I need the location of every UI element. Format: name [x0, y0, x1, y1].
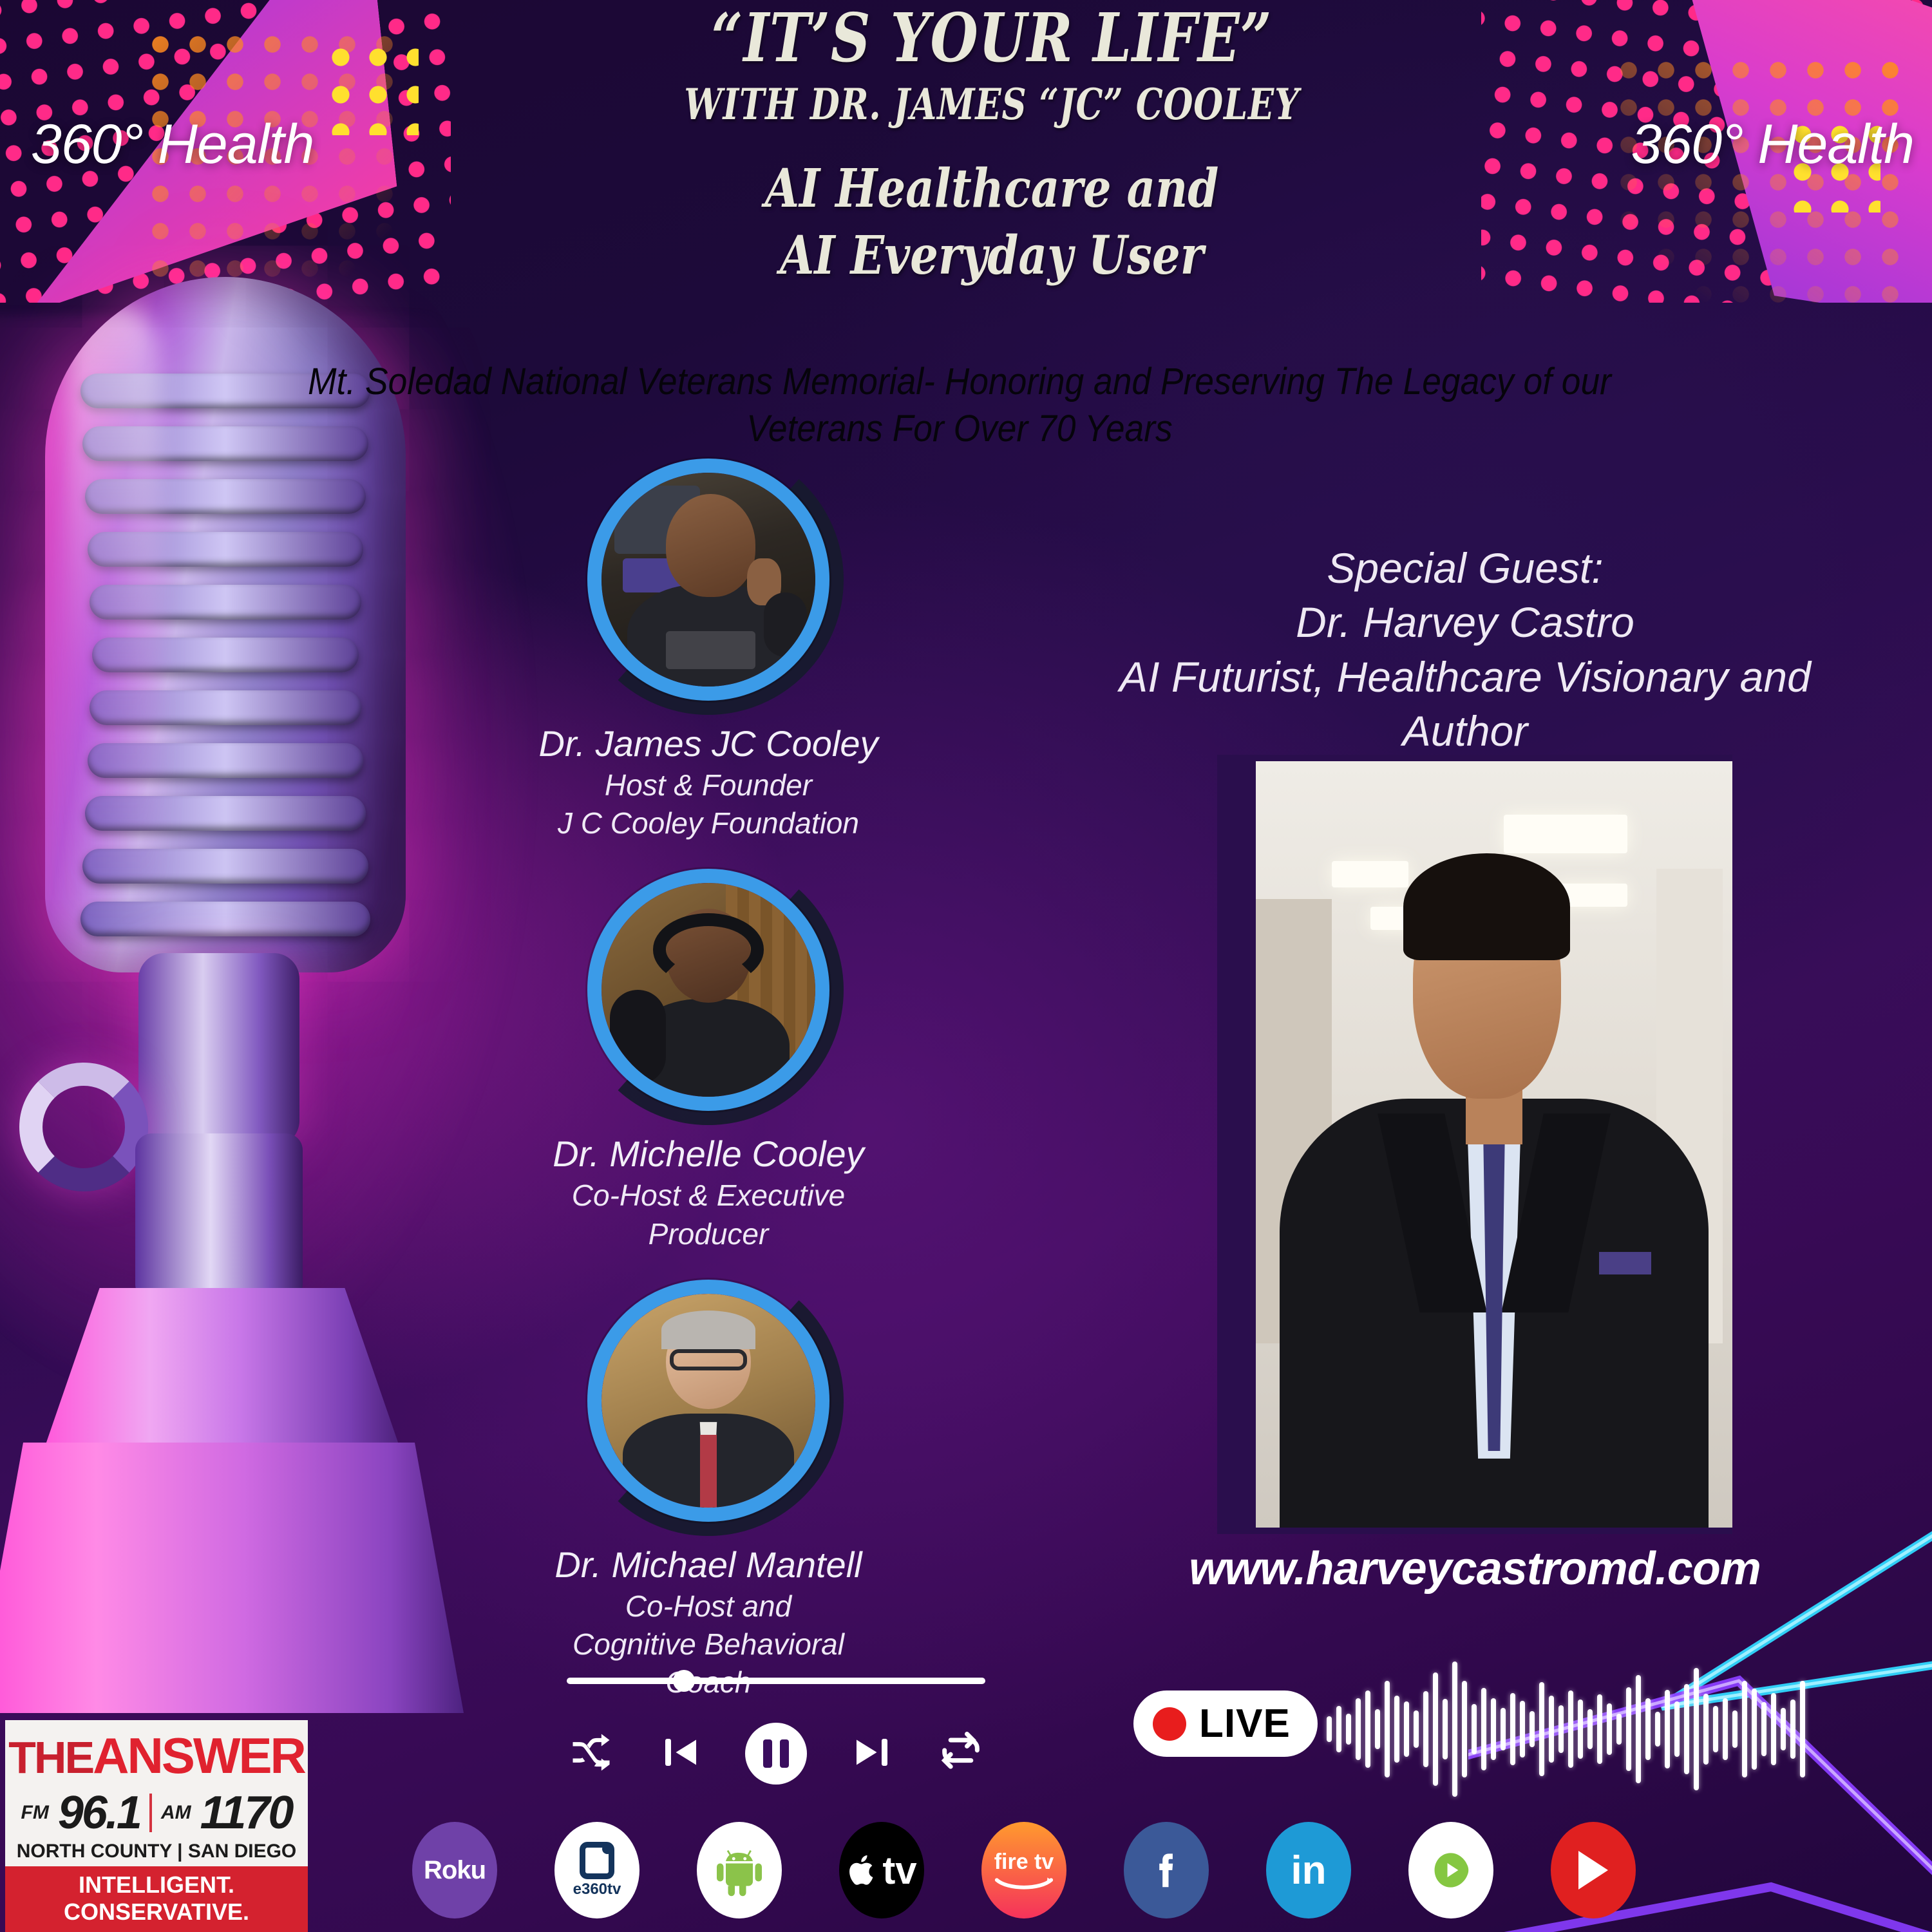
hosts-column: Dr. James JC Cooley Host & Founder J C C…	[522, 444, 895, 1714]
host-card[interactable]: Dr. Michael Mantell Co-Host and Cognitiv…	[522, 1265, 895, 1700]
host-photo	[601, 473, 815, 687]
microphone-illustration	[0, 277, 528, 1835]
e360tv-icon[interactable]: e360tv	[554, 1822, 639, 1918]
pause-icon	[763, 1739, 789, 1768]
amazon-smile-icon	[993, 1875, 1055, 1891]
platform-icon-row: Roku e360tv tv fire tv in	[412, 1819, 1636, 1922]
station-market: NORTH COUNTY | SAN DIEGO	[5, 1841, 308, 1866]
host-role-line: Cognitive Behavioral	[522, 1627, 895, 1662]
station-am-frequency: 1170	[200, 1786, 292, 1839]
play-triangle-icon	[1578, 1851, 1608, 1889]
microphone-highlight	[67, 305, 161, 931]
live-badge: LIVE	[1133, 1690, 1318, 1757]
next-track-icon[interactable]	[849, 1729, 895, 1779]
roku-icon[interactable]: Roku	[412, 1822, 497, 1918]
player-controls	[567, 1723, 985, 1785]
station-the-label: THE	[8, 1732, 93, 1783]
live-record-dot-icon	[1153, 1707, 1186, 1741]
host-name: Dr. Michael Mantell	[522, 1545, 895, 1586]
avatar	[573, 1265, 844, 1536]
rumble-icon[interactable]	[1408, 1822, 1493, 1918]
e360tv-label: e360tv	[573, 1880, 621, 1899]
microphone-base	[42, 1288, 402, 1455]
special-guest-label: Special Guest:	[1005, 541, 1926, 595]
radio-station-logo: THEANSWER FM 96.1 AM 1170 NORTH COUNTY |…	[5, 1720, 308, 1932]
divider	[149, 1794, 152, 1832]
avatar-ring	[587, 459, 829, 701]
station-am-label: AM	[161, 1802, 191, 1824]
poster-canvas: 360° Health 360° Health “IT’S YOUR LIFE”…	[0, 0, 1932, 1932]
host-card[interactable]: Dr. Michelle Cooley Co-Host & Executive …	[522, 855, 895, 1251]
shuffle-icon[interactable]	[567, 1728, 616, 1780]
halftone-dots-yellow	[322, 39, 419, 135]
host-role-line: Co-Host and	[522, 1589, 895, 1624]
youtube-icon[interactable]	[1551, 1822, 1636, 1918]
special-guest-titles-line-1: AI Futurist, Healthcare Visionary and	[1005, 650, 1926, 704]
host-name: Dr. Michelle Cooley	[522, 1134, 895, 1175]
station-fm-frequency: 96.1	[58, 1786, 140, 1839]
guest-website-url[interactable]: www.harveycastromd.com	[1095, 1542, 1855, 1595]
fire-tv-icon[interactable]: fire tv	[981, 1822, 1066, 1918]
microphone-plate	[0, 1443, 464, 1713]
facebook-icon[interactable]	[1124, 1822, 1209, 1918]
special-guest-photo	[1217, 755, 1732, 1534]
episode-topic-line-2: AI Everyday User	[570, 223, 1414, 288]
station-answer-label: ANSWER	[93, 1727, 305, 1784]
special-guest-titles-line-2: Author	[1005, 704, 1926, 758]
show-title: “IT’S YOUR LIFE”	[580, 4, 1403, 72]
microphone-neck	[138, 953, 299, 1146]
memorial-sponsor-text: Mt. Soledad National Veterans Memorial- …	[272, 358, 1647, 452]
avatar-ring	[587, 869, 829, 1111]
host-name: Dr. James JC Cooley	[522, 724, 895, 764]
host-photo	[601, 1294, 815, 1508]
host-photo	[601, 883, 815, 1097]
linkedin-label: in	[1291, 1848, 1326, 1893]
special-guest-block: Special Guest: Dr. Harvey Castro AI Futu…	[1005, 541, 1926, 759]
host-role-line: Host & Founder	[522, 768, 895, 802]
live-label: LIVE	[1199, 1701, 1291, 1747]
android-icon[interactable]	[697, 1822, 782, 1918]
brand-label-right: 360° Health	[1631, 113, 1914, 176]
station-tagline: INTELLIGENT. CONSERVATIVE.	[5, 1866, 308, 1932]
host-role-line: Producer	[522, 1217, 895, 1251]
brand-label-left: 360° Health	[31, 113, 314, 176]
avatar	[573, 444, 844, 715]
avatar	[573, 855, 844, 1125]
headline-block: “IT’S YOUR LIFE” WITH DR. JAMES “JC” COO…	[489, 4, 1494, 288]
episode-topic-line-1: AI Healthcare and	[570, 156, 1414, 221]
host-role-line: Co-Host & Executive	[522, 1179, 895, 1213]
apple-tv-label: tv	[882, 1848, 916, 1893]
roku-label: Roku	[424, 1856, 486, 1885]
previous-track-icon[interactable]	[658, 1729, 704, 1779]
station-fm-label: FM	[21, 1802, 49, 1824]
media-player	[567, 1678, 985, 1785]
progress-bar[interactable]	[567, 1678, 985, 1684]
host-card[interactable]: Dr. James JC Cooley Host & Founder J C C…	[522, 444, 895, 840]
progress-handle[interactable]	[673, 1670, 695, 1692]
microphone-mount-ring	[19, 1063, 148, 1191]
show-host-line: WITH DR. JAMES “JC” COOLEY	[590, 81, 1394, 128]
microphone-stem	[135, 1133, 303, 1301]
audio-waveform	[1327, 1655, 1829, 1803]
host-role-line: J C Cooley Foundation	[522, 806, 895, 840]
fire-tv-label: fire tv	[994, 1850, 1054, 1875]
apple-tv-icon[interactable]: tv	[839, 1822, 924, 1918]
e360tv-glyph	[580, 1842, 614, 1879]
avatar-ring	[587, 1280, 829, 1522]
linkedin-icon[interactable]: in	[1266, 1822, 1351, 1918]
repeat-icon[interactable]	[936, 1728, 985, 1780]
special-guest-name: Dr. Harvey Castro	[1005, 595, 1926, 649]
pause-button[interactable]	[745, 1723, 807, 1785]
